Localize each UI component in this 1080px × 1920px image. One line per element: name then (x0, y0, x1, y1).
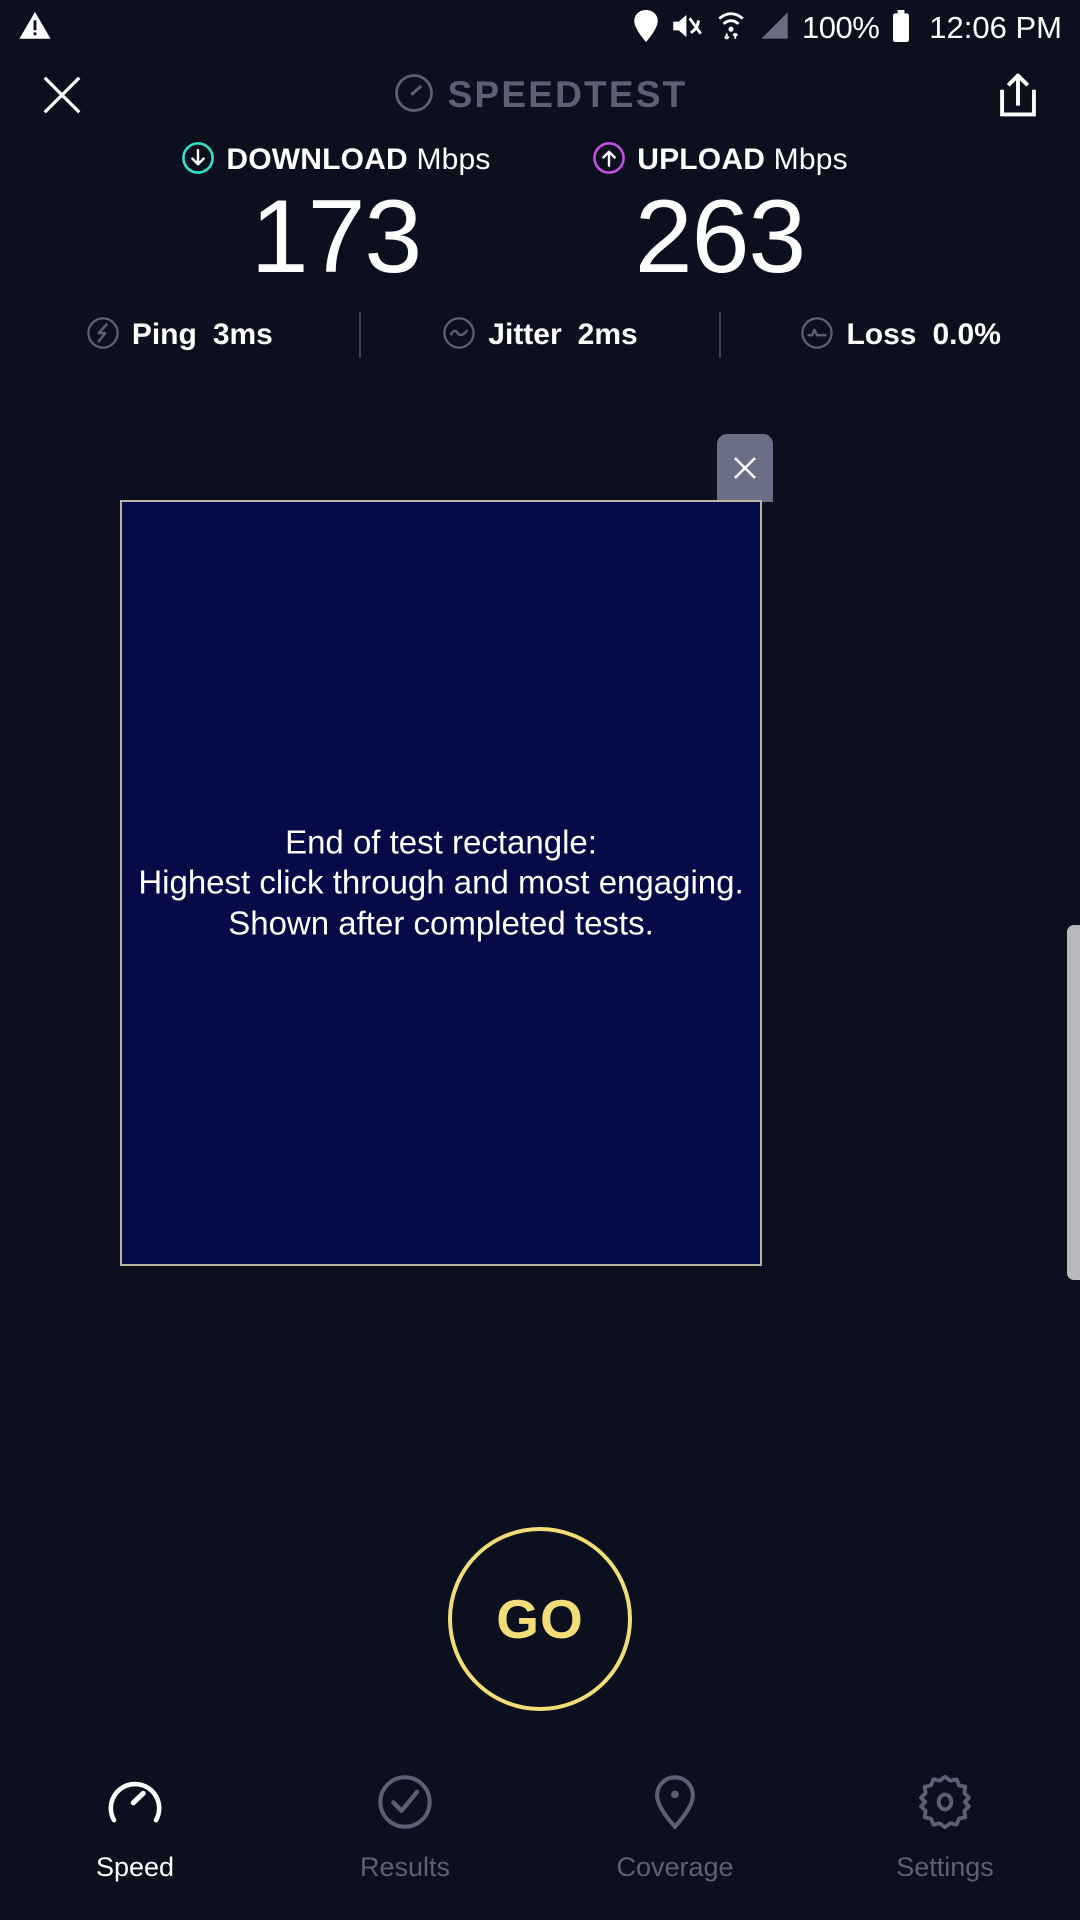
nav-item-coverage[interactable]: Coverage (540, 1773, 810, 1883)
location-pin-icon (633, 10, 659, 47)
speedometer-icon (106, 1773, 164, 1836)
speedtest-app-screen: 100% 12:06 PM SPEEDTEST (0, 0, 1080, 1920)
bottom-navigation: Speed Results Coverage (0, 1755, 1080, 1920)
status-bar: 100% 12:06 PM (0, 0, 1080, 56)
nav-item-speed[interactable]: Speed (0, 1773, 270, 1883)
jitter-icon (442, 316, 476, 355)
metric-jitter-label: Jitter (488, 318, 561, 352)
advertisement-container: End of test rectangle: Highest click thr… (120, 500, 762, 1266)
metric-loss-label: Loss (846, 318, 916, 352)
status-bar-right: 100% 12:06 PM (633, 10, 1062, 47)
app-header: SPEEDTEST (0, 56, 1080, 134)
volume-muted-icon (671, 11, 704, 46)
wifi-icon (716, 10, 746, 47)
share-icon (998, 72, 1038, 118)
battery-full-icon (891, 10, 911, 47)
ad-line-1: End of test rectangle: (134, 823, 748, 863)
status-bar-left (18, 9, 52, 48)
metric-ping-label: Ping (132, 318, 197, 352)
nav-label-speed: Speed (96, 1852, 174, 1883)
nav-label-coverage: Coverage (616, 1852, 733, 1883)
ad-line-2: Highest click through and most engaging. (134, 863, 748, 903)
status-bar-clock: 12:06 PM (929, 10, 1062, 46)
ad-close-button[interactable] (717, 434, 773, 502)
metric-jitter: Jitter 2ms (361, 316, 720, 355)
circle-arrow-down-icon (181, 141, 215, 180)
upload-header: UPLOAD Mbps (540, 140, 900, 180)
results-summary: DOWNLOAD Mbps 173 UPLOAD Mbps 263 (0, 140, 1080, 290)
nav-label-settings: Settings (896, 1852, 994, 1883)
nav-item-results[interactable]: Results (270, 1773, 540, 1883)
results-row: DOWNLOAD Mbps 173 UPLOAD Mbps 263 (0, 140, 1080, 290)
go-button[interactable]: GO (448, 1527, 632, 1711)
map-pin-icon (646, 1773, 704, 1836)
metric-loss: Loss 0.0% (721, 316, 1080, 355)
cellular-signal-icon (758, 11, 790, 46)
speedometer-icon (393, 72, 435, 119)
loss-icon (800, 316, 834, 355)
gear-icon (916, 1773, 974, 1836)
ad-line-3: Shown after completed tests. (134, 903, 748, 943)
close-button[interactable] (32, 65, 92, 125)
metric-loss-value: 0.0% (933, 318, 1001, 352)
go-button-label: GO (496, 1587, 584, 1651)
warning-triangle-icon (18, 9, 52, 48)
circle-arrow-up-icon (592, 141, 626, 180)
close-icon (730, 453, 760, 483)
upload-label: UPLOAD Mbps (637, 143, 848, 177)
metrics-row: Ping 3ms Jitter 2ms Loss 0.0 (0, 302, 1080, 368)
metric-ping-value: 3ms (213, 318, 273, 352)
vertical-scrollbar[interactable] (1067, 925, 1080, 1280)
download-label: DOWNLOAD Mbps (226, 143, 490, 177)
nav-item-settings[interactable]: Settings (810, 1773, 1080, 1883)
advertisement-banner[interactable]: End of test rectangle: Highest click thr… (120, 500, 762, 1266)
upload-value: 263 (540, 184, 900, 290)
ping-icon (86, 316, 120, 355)
share-button[interactable] (988, 65, 1048, 125)
battery-percent-label: 100% (802, 10, 879, 46)
nav-label-results: Results (360, 1852, 450, 1883)
download-header: DOWNLOAD Mbps (156, 140, 516, 180)
check-circle-icon (376, 1773, 434, 1836)
metric-ping: Ping 3ms (0, 316, 359, 355)
metric-jitter-value: 2ms (578, 318, 638, 352)
download-result: DOWNLOAD Mbps 173 (156, 140, 516, 290)
advertisement-text: End of test rectangle: Highest click thr… (122, 823, 760, 944)
close-icon (39, 72, 85, 118)
brand-label: SPEEDTEST (448, 74, 688, 116)
download-value: 173 (156, 184, 516, 290)
upload-result: UPLOAD Mbps 263 (540, 140, 900, 290)
brand-title: SPEEDTEST (0, 72, 1080, 119)
